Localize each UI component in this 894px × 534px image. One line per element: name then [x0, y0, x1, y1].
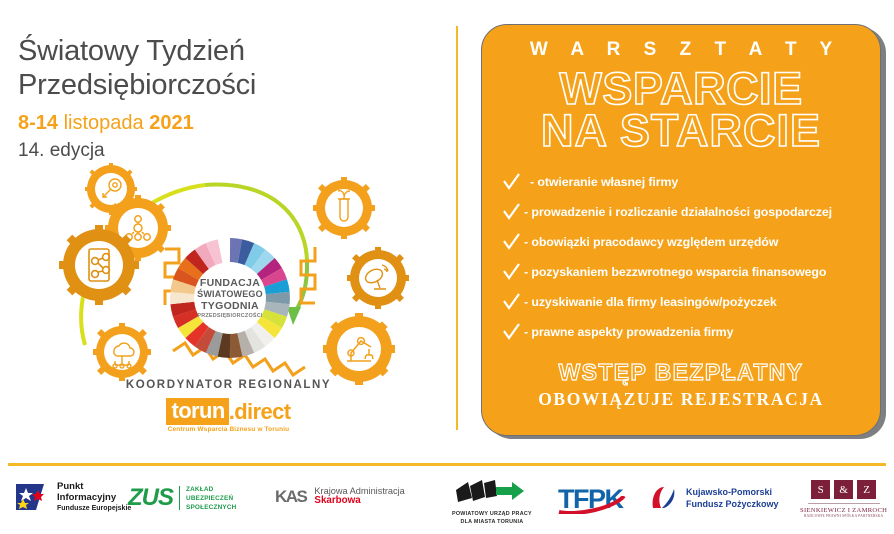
headline-line-1: Światowy Tydzień [18, 34, 438, 68]
event-dates: 8-14 listopada 2021 [18, 111, 438, 135]
pup-line-1: POWIATOWY URZĄD PRACY [452, 511, 532, 519]
logo-kpfp: Kujawsko-Pomorski Fundusz Pożyczkowy [650, 484, 779, 512]
check-icon [498, 232, 524, 252]
zus-text-block: ZAKŁAD UBEZPIECZEŃ SPOŁECZNYCH [186, 485, 237, 512]
headline-line-2: Przedsiębiorczości [18, 68, 438, 102]
page-title: Światowy Tydzień Przedsiębiorczości 8-14… [18, 34, 438, 162]
zus-line-3: SPOŁECZNYCH [186, 503, 237, 512]
logo-sienkiewicz-zamroch: S & Z SIENKIEWICZ I ZAMROCH RADCOWIE PRA… [800, 480, 887, 518]
panel-title-line-2: NA STARCIE [482, 110, 880, 152]
date-year: 2021 [149, 112, 194, 134]
kpfp-symbol-icon [650, 484, 680, 512]
panel-title-line-1: WSPARCIE [482, 68, 880, 110]
torun-direct-suffix: .direct [229, 400, 291, 424]
list-item-label: - obowiązki pracodawcy względem urzędów [524, 235, 778, 249]
list-item: - prowadzenie i rozliczanie działalności… [498, 197, 876, 227]
panel-kicker: W A R S Z T A T Y [482, 39, 880, 61]
list-item: - uzyskiwanie dla firmy leasingów/pożycz… [498, 287, 876, 317]
panel-footer-line-2: OBOWIĄZUJE REJESTRACJA [482, 389, 880, 410]
torun-direct-mark: torun [166, 398, 228, 425]
zus-rule [179, 486, 180, 510]
sponsor-logo-bar: Punkt Informacyjny Fundusze Europejskie … [0, 472, 894, 534]
check-icon [498, 292, 524, 312]
gear-icon-robot-arm [323, 313, 395, 385]
pup-arrow-icon [454, 478, 530, 508]
list-item: - prawne aspekty prowadzenia firmy [498, 317, 876, 347]
check-icon [498, 322, 524, 342]
poster-root: Światowy Tydzień Przedsiębiorczości 8-14… [0, 0, 894, 534]
tfpk-swoosh-icon [556, 496, 632, 514]
gear-icon-cloud [93, 323, 151, 381]
check-icon [498, 172, 524, 192]
punkt-line-3: Fundusze Europejskie [57, 505, 131, 513]
check-icon [498, 202, 524, 222]
list-item-label: - prawne aspekty prowadzenia firmy [524, 325, 733, 339]
zus-line-2: UBEZPIECZEŃ [186, 494, 237, 503]
sz-firm-subtitle: RADCOWIE PRAWNI SPÓŁKA PARTNERSKA [804, 514, 883, 518]
foundation-ring-logo: FUNDACJA ŚWIATOWEGO TYGODNIA PRZEDSIĘBIO… [160, 238, 300, 358]
logo-kas: KAS Krajowa Administracja Skarbowa [275, 486, 405, 507]
logo-punkt-informacyjny: Punkt Informacyjny Fundusze Europejskie [14, 482, 131, 513]
pup-line-2: DLA MIASTA TORUNIA [452, 519, 532, 527]
check-icon [498, 262, 524, 282]
gear-icon-testtube [313, 177, 375, 239]
footer-divider [8, 463, 886, 466]
punkt-line-2: Informacyjny [57, 493, 131, 504]
logo-zus: ZUS ZAKŁAD UBEZPIECZEŃ SPOŁECZNYCH [128, 484, 237, 512]
left-column: Światowy Tydzień Przedsiębiorczości 8-14… [0, 0, 457, 455]
zus-line-1: ZAKŁAD [186, 485, 237, 494]
ring-segments [160, 238, 300, 358]
torun-direct-tagline: Centrum Wsparcia Biznesu w Toruniu [0, 426, 457, 433]
workshop-panel: W A R S Z T A T Y WSPARCIE NA STARCIE - … [481, 24, 881, 436]
date-range: 8-14 [18, 112, 58, 134]
gear-icon-satellite [347, 247, 409, 309]
sz-rule [808, 503, 880, 504]
list-item: - obowiązki pracodawcy względem urzędów [498, 227, 876, 257]
eu-funds-icon [14, 482, 50, 512]
zus-wordmark: ZUS [128, 484, 173, 512]
vertical-divider [456, 26, 458, 430]
sz-letter-amp: & [834, 480, 853, 499]
logo-tfpk: TFPK [558, 484, 623, 515]
kas-line-2: Skarbowa [314, 496, 404, 507]
sz-letter-z: Z [857, 480, 876, 499]
list-item-label: - otwieranie własnej firmy [524, 175, 678, 189]
panel-footer-line-1: WSTĘP BEZPŁATNY [482, 359, 880, 386]
sz-firm-name: SIENKIEWICZ I ZAMROCH [800, 507, 887, 514]
kas-mark: KAS [275, 487, 306, 507]
sz-letter-s: S [811, 480, 830, 499]
kpfp-line-1: Kujawsko-Pomorski [686, 486, 779, 498]
list-item-label: - pozyskaniem bezzwrotnego wsparcia fina… [524, 265, 826, 279]
list-item: - otwieranie własnej firmy [498, 167, 876, 197]
list-item-label: - uzyskiwanie dla firmy leasingów/pożycz… [524, 295, 777, 309]
topic-list: - otwieranie własnej firmy - prowadzenie… [482, 167, 880, 347]
kpfp-line-2: Fundusz Pożyczkowy [686, 498, 779, 510]
coordinator-label: KOORDYNATOR REGIONALNY [0, 379, 457, 391]
logo-pup-torun: POWIATOWY URZĄD PRACY DLA MIASTA TORUNIA [452, 478, 532, 526]
list-item-label: - prowadzenie i rozliczanie działalności… [524, 205, 832, 219]
gear-icon-mobile-network [59, 225, 139, 305]
torun-direct-logo: torun.direct Centrum Wsparcia Biznesu w … [0, 398, 457, 433]
list-item: - pozyskaniem bezzwrotnego wsparcia fina… [498, 257, 876, 287]
date-month: listopada [58, 112, 149, 134]
